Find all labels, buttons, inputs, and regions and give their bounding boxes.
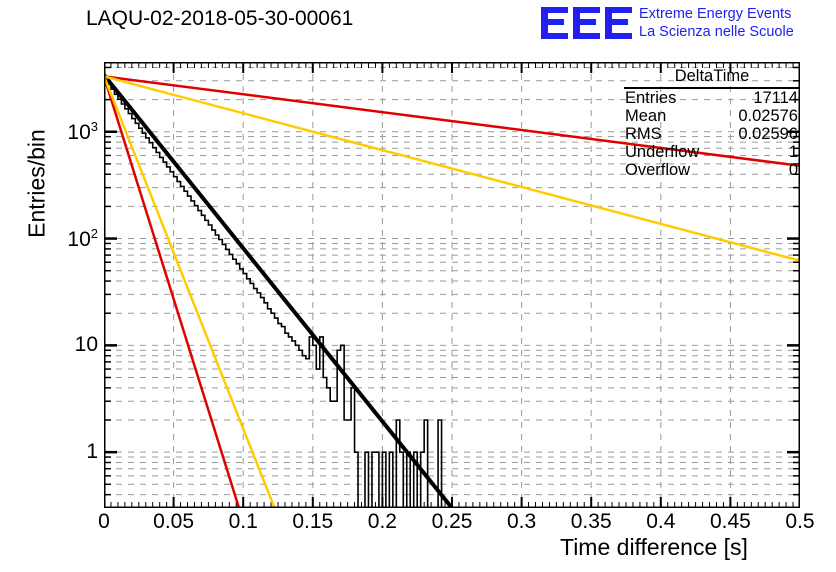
x-tick-label: 0.1 (229, 510, 258, 534)
eee-logo-mark (541, 6, 633, 40)
y-tick-label: 1 (30, 440, 98, 464)
stats-title: DeltaTime (624, 66, 800, 89)
stats-row-value: 0.02576 (738, 107, 798, 125)
x-axis-label: Time difference [s] (560, 534, 748, 561)
eee-logo-line2: La Scienza nelle Scuole (639, 23, 794, 41)
x-tick-label: 0.4 (646, 510, 675, 534)
eee-logo-line1: Extreme Energy Events (639, 5, 794, 23)
stats-row-label: RMS (625, 125, 662, 143)
y-tick-label: 10 (30, 333, 98, 357)
stats-row-label: Overflow (625, 161, 690, 179)
stats-row-label: Underflow (625, 143, 699, 161)
y-axis-label: Entries/bin (24, 74, 51, 294)
x-tick-label: 0.05 (153, 510, 194, 534)
stats-box: DeltaTime Entries17114Mean0.02576RMS0.02… (624, 66, 800, 196)
x-tick-label: 0.25 (432, 510, 473, 534)
stats-row-value: 1 (789, 143, 798, 161)
y-tick-label: 103 (30, 119, 98, 145)
stats-row: Entries17114 (624, 89, 800, 107)
x-tick-label: 0.35 (571, 510, 612, 534)
stats-rows: Entries17114Mean0.02576RMS0.02596Underfl… (624, 89, 800, 179)
x-tick-label: 0.15 (292, 510, 333, 534)
stats-row: Overflow0 (624, 161, 800, 179)
stats-row: Mean0.02576 (624, 107, 800, 125)
x-tick-label: 0 (98, 510, 110, 534)
x-tick-label: 0.45 (710, 510, 751, 534)
y-tick-label: 102 (30, 226, 98, 252)
stats-row: RMS0.02596 (624, 125, 800, 143)
x-tick-label: 0.2 (368, 510, 397, 534)
x-tick-label: 0.3 (507, 510, 536, 534)
stats-row-label: Entries (625, 89, 676, 107)
stats-row: Underflow1 (624, 143, 800, 161)
page-title: LAQU-02-2018-05-30-00061 (86, 7, 353, 31)
chart-canvas: LAQU-02-2018-05-30-00061 Extreme Energy … (0, 0, 836, 572)
stats-row-value: 17114 (753, 89, 798, 107)
x-tick-label: 0.5 (785, 510, 814, 534)
eee-logo-text: Extreme Energy Events La Scienza nelle S… (639, 5, 794, 41)
stats-row-value: 0.02596 (738, 125, 798, 143)
stats-row-value: 0 (789, 161, 798, 179)
stats-row-label: Mean (625, 107, 666, 125)
eee-logo: Extreme Energy Events La Scienza nelle S… (541, 4, 836, 44)
